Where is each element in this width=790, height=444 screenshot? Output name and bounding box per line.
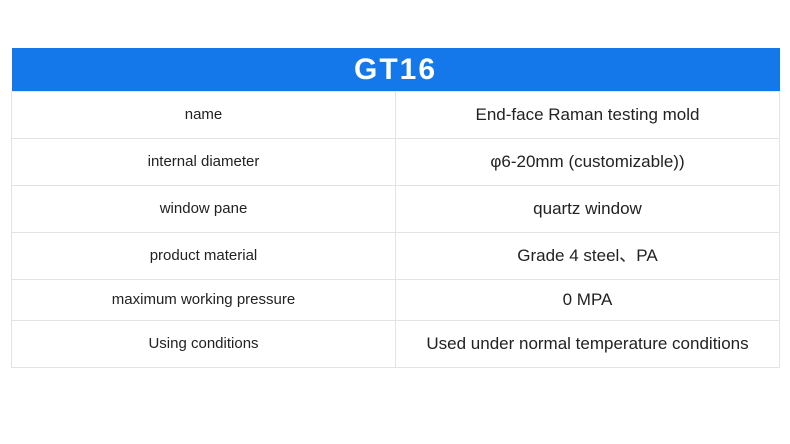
product-spec-page: GT16 name End-face Raman testing mold in… <box>0 0 790 444</box>
spec-label-cell: maximum working pressure <box>12 280 396 321</box>
spec-value-cell: φ6-20mm (customizable)) <box>396 139 780 186</box>
spec-table-body: GT16 name End-face Raman testing mold in… <box>12 48 780 368</box>
spec-label-cell: name <box>12 92 396 139</box>
spec-value-cell: quartz window <box>396 186 780 233</box>
spec-value-cell: End-face Raman testing mold <box>396 92 780 139</box>
spec-table-title-row: GT16 <box>12 48 780 92</box>
spec-value: Grade 4 steel、PA <box>396 245 779 266</box>
spec-value: quartz window <box>396 198 779 219</box>
title-bar: GT16 <box>12 48 780 92</box>
spec-label: Using conditions <box>12 335 395 354</box>
spec-label: window pane <box>12 200 395 219</box>
spec-label: maximum working pressure <box>12 291 395 310</box>
spec-label: product material <box>12 247 395 266</box>
spec-label-cell: Using conditions <box>12 321 396 368</box>
table-row: name End-face Raman testing mold <box>12 92 780 139</box>
spec-value-cell: Grade 4 steel、PA <box>396 233 780 280</box>
spec-label-cell: window pane <box>12 186 396 233</box>
spec-value: 0 MPA <box>396 289 779 310</box>
spec-value-cell: Used under normal temperature conditions <box>396 321 780 368</box>
spec-value: φ6-20mm (customizable)) <box>396 151 779 172</box>
table-row: internal diameter φ6-20mm (customizable)… <box>12 139 780 186</box>
table-row: Using conditions Used under normal tempe… <box>12 321 780 368</box>
spec-label-cell: internal diameter <box>12 139 396 186</box>
spec-label-cell: product material <box>12 233 396 280</box>
table-row: product material Grade 4 steel、PA <box>12 233 780 280</box>
page-title: GT16 <box>12 48 780 91</box>
spec-value: Used under normal temperature conditions <box>396 333 779 354</box>
spec-label: internal diameter <box>12 153 395 172</box>
spec-value-cell: 0 MPA <box>396 280 780 321</box>
spec-value: End-face Raman testing mold <box>396 104 779 125</box>
spec-label: name <box>12 106 395 125</box>
table-row: maximum working pressure 0 MPA <box>12 280 780 321</box>
spec-table: GT16 name End-face Raman testing mold in… <box>11 48 780 368</box>
table-row: window pane quartz window <box>12 186 780 233</box>
